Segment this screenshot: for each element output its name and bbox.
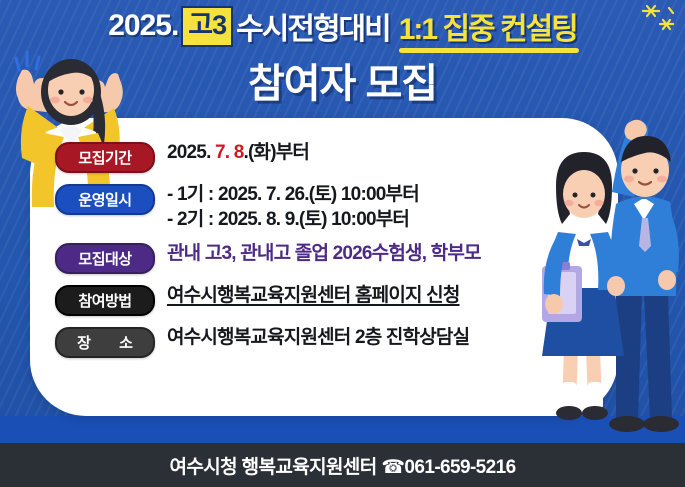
sparkle-star-icon — [639, 2, 679, 36]
header-grade-chip: 고3 — [181, 6, 233, 47]
header-yellow-text: 1:1 집중 컨설팅 — [399, 4, 577, 48]
period-highlight: 7. 8 — [215, 142, 244, 163]
period-post: .(화)부터 — [244, 142, 310, 163]
info-row-schedule: 운영일시 - 1기 : 2025. 7. 26.(토) 10:00부터 - 2기… — [55, 182, 615, 232]
info-row-method: 참여방법 여수시행복교육지원센터 홈페이지 신청 — [55, 283, 615, 316]
value-recruitment-period: 2025. 7. 8.(화)부터 — [167, 140, 309, 165]
badge-method: 참여방법 — [55, 285, 155, 316]
info-row-target: 모집대상 관내 고3, 관내고 졸업 2026수험생, 학부모 — [55, 241, 615, 274]
footer-contact-text: 여수시청 행복교육지원센터 ☎061-659-5216 — [169, 452, 515, 479]
value-location: 여수시행복교육지원센터 2층 진학상담실 — [167, 325, 469, 350]
poster-root: 2025. 고3 수시전형대비 1:1 집중 컨설팅 참여자 모집 — [0, 0, 685, 487]
schedule-line-1: - 1기 : 2025. 7. 26.(토) 10:00부터 — [167, 182, 419, 207]
badge-schedule: 운영일시 — [55, 184, 155, 215]
subtitle-text: 참여자 모집 — [248, 51, 437, 109]
period-pre: 2025. — [167, 142, 215, 163]
info-row-recruitment-period: 모집기간 2025. 7. 8.(화)부터 — [55, 140, 615, 173]
value-schedule: - 1기 : 2025. 7. 26.(토) 10:00부터 - 2기 : 20… — [167, 182, 419, 232]
badge-target: 모집대상 — [55, 243, 155, 274]
poster-footer: 여수시청 행복교육지원센터 ☎061-659-5216 — [0, 443, 685, 487]
badge-recruitment-period: 모집기간 — [55, 142, 155, 173]
info-row-location: 장 소 여수시행복교육지원센터 2층 진학상담실 — [55, 325, 615, 358]
value-method[interactable]: 여수시행복교육지원센터 홈페이지 신청 — [167, 283, 460, 308]
poster-header: 2025. 고3 수시전형대비 1:1 집중 컨설팅 — [0, 2, 685, 50]
poster-subtitle: 참여자 모집 — [0, 52, 685, 108]
header-year: 2025. — [108, 9, 178, 43]
info-rows: 모집기간 2025. 7. 8.(화)부터 운영일시 - 1기 : 2025. … — [55, 140, 615, 367]
value-target: 관내 고3, 관내고 졸업 2026수험생, 학부모 — [167, 241, 481, 266]
schedule-line-2: - 2기 : 2025. 8. 9.(토) 10:00부터 — [167, 207, 419, 232]
header-yellow-label: 1:1 집중 컨설팅 — [399, 13, 577, 46]
header-white-text: 수시전형대비 — [236, 4, 390, 48]
badge-location: 장 소 — [55, 327, 155, 358]
